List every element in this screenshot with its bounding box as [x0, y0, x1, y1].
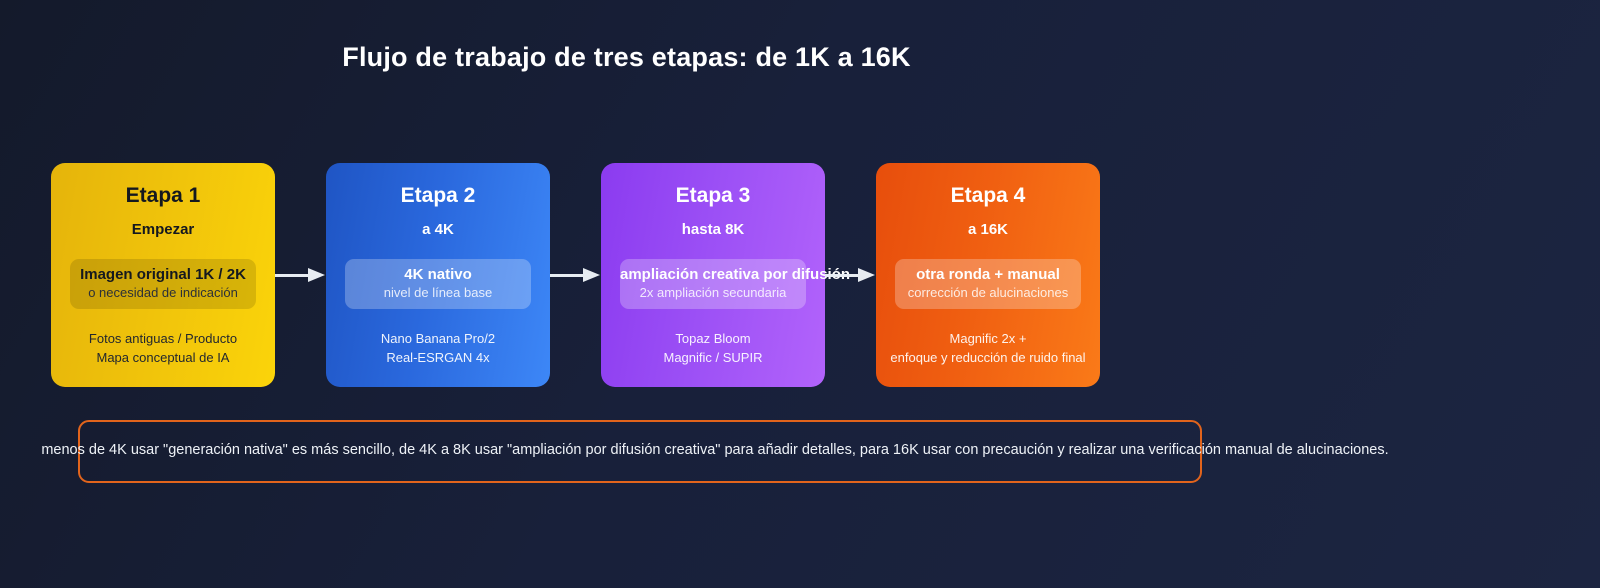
stage-card-2-tools: Nano Banana Pro/2 Real-ESRGAN 4x — [381, 330, 495, 368]
stage-card-1-tools: Fotos antiguas / Producto Mapa conceptua… — [89, 330, 237, 368]
summary-note-text: menos de 4K usar "generación nativa" es … — [0, 441, 1430, 460]
arrow-head-icon — [583, 268, 600, 282]
stage-card-4-pill-main: otra ronda + manual — [895, 266, 1081, 283]
stage-card-4-pill: otra ronda + manual corrección de alucin… — [895, 259, 1081, 309]
stage-card-2-pill-main: 4K nativo — [345, 266, 531, 283]
stage-card-2-pill-sub: nivel de línea base — [345, 286, 531, 301]
stage-card-4-subtitle: a 16K — [968, 222, 1008, 237]
stage-card-3-pill-sub: 2x ampliación secundaria — [620, 286, 806, 301]
stage-card-3-pill-main: ampliación creativa por difusión — [620, 266, 806, 283]
stage-card-1-pill-sub: o necesidad de indicación — [70, 286, 256, 301]
stage-card-3[interactable]: Etapa 3 hasta 8K ampliación creativa por… — [601, 163, 825, 387]
stage-card-2-subtitle: a 4K — [422, 222, 454, 237]
stage-card-1-pill-main: Imagen original 1K / 2K — [70, 266, 256, 283]
arrow-stage3-to-stage4 — [825, 268, 876, 282]
stage-flow: Etapa 1 Empezar Imagen original 1K / 2K … — [51, 163, 1104, 387]
stage-card-2[interactable]: Etapa 2 a 4K 4K nativo nivel de línea ba… — [326, 163, 550, 387]
arrow-stage1-to-stage2 — [275, 268, 326, 282]
stage-card-4-pill-sub: corrección de alucinaciones — [895, 286, 1081, 301]
stage-card-1-subtitle: Empezar — [132, 222, 195, 237]
stage-card-3-tools: Topaz Bloom Magnific / SUPIR — [664, 330, 763, 368]
stage-card-3-subtitle: hasta 8K — [682, 222, 745, 237]
arrow-head-icon — [858, 268, 875, 282]
stage-card-3-pill: ampliación creativa por difusión 2x ampl… — [620, 259, 806, 309]
stage-card-2-title: Etapa 2 — [401, 185, 476, 206]
stage-card-4-tool-line-2: enfoque y reducción de ruido final — [890, 349, 1085, 368]
stage-card-3-tool-line-2: Magnific / SUPIR — [664, 349, 763, 368]
arrow-stage2-to-stage3 — [550, 268, 601, 282]
stage-card-1-pill: Imagen original 1K / 2K o necesidad de i… — [70, 259, 256, 309]
stage-card-3-tool-line-1: Topaz Bloom — [664, 330, 763, 349]
stage-card-4-title: Etapa 4 — [951, 185, 1026, 206]
stage-card-1-title: Etapa 1 — [126, 185, 201, 206]
arrow-head-icon — [308, 268, 325, 282]
stage-card-1[interactable]: Etapa 1 Empezar Imagen original 1K / 2K … — [51, 163, 275, 387]
page-title: Flujo de trabajo de tres etapas: de 1K a… — [0, 42, 1253, 73]
stage-card-3-title: Etapa 3 — [676, 185, 751, 206]
stage-card-4-tool-line-1: Magnific 2x + — [890, 330, 1085, 349]
stage-card-4[interactable]: Etapa 4 a 16K otra ronda + manual correc… — [876, 163, 1100, 387]
stage-card-1-tool-line-2: Mapa conceptual de IA — [89, 349, 237, 368]
stage-card-2-tool-line-1: Nano Banana Pro/2 — [381, 330, 495, 349]
stage-card-1-tool-line-1: Fotos antiguas / Producto — [89, 330, 237, 349]
stage-card-4-tools: Magnific 2x + enfoque y reducción de rui… — [890, 330, 1085, 368]
stage-card-2-tool-line-2: Real-ESRGAN 4x — [381, 349, 495, 368]
stage-card-2-pill: 4K nativo nivel de línea base — [345, 259, 531, 309]
